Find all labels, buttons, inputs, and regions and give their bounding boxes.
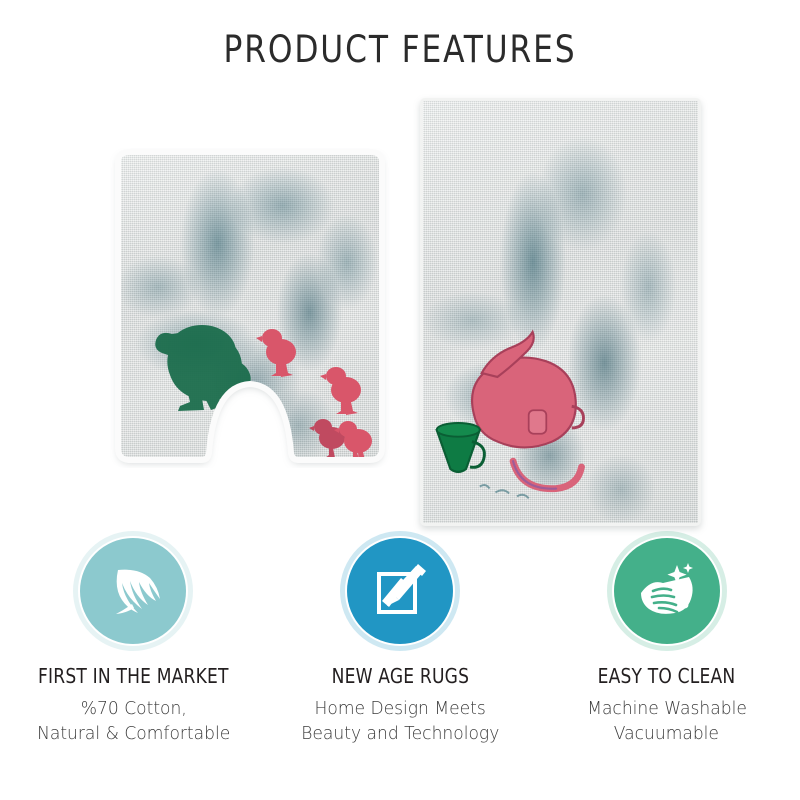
product-image-stage <box>0 0 800 530</box>
feature-item-first-in-the-market[interactable]: FIRST IN THE MARKET %70 Cotton, Natural … <box>0 536 267 800</box>
feature-subtitle-line-2: Beauty and Technology <box>301 721 499 746</box>
hand-wiping-sparkle-icon <box>635 561 699 621</box>
feather-icon <box>102 560 164 622</box>
feature-item-easy-to-clean[interactable]: EASY TO CLEAN Machine Washable Vacuumabl… <box>533 536 800 800</box>
pen-and-pencil-design-icon <box>369 560 431 622</box>
feature-subtitle-line-1: Home Design Meets <box>314 696 485 721</box>
feature-list: FIRST IN THE MARKET %70 Cotton, Natural … <box>0 536 800 800</box>
feature-subtitle-line-1: %70 Cotton, <box>80 696 186 721</box>
teacup-icon <box>437 423 485 472</box>
design-icon-badge[interactable] <box>347 538 453 644</box>
product-image-contour-mat <box>110 148 390 468</box>
feature-subtitle-line-2: Vacuumable <box>614 721 719 746</box>
teapot-icon <box>472 332 583 489</box>
feather-icon-badge[interactable] <box>80 538 186 644</box>
teapot-motif <box>423 101 698 520</box>
feature-item-new-age-rugs[interactable]: NEW AGE RUGS Home Design Meets Beauty an… <box>267 536 534 800</box>
decor-squiggles <box>480 485 529 498</box>
clean-icon-badge[interactable] <box>614 538 720 644</box>
feature-title: NEW AGE RUGS <box>331 664 469 688</box>
feature-title: EASY TO CLEAN <box>598 664 736 688</box>
feature-subtitle-line-1: Machine Washable <box>587 696 747 721</box>
feature-subtitle-line-2: Natural & Comfortable <box>37 721 230 746</box>
product-image-bath-rug <box>420 98 701 526</box>
feature-title: FIRST IN THE MARKET <box>38 664 229 688</box>
mat-surface <box>115 149 385 464</box>
